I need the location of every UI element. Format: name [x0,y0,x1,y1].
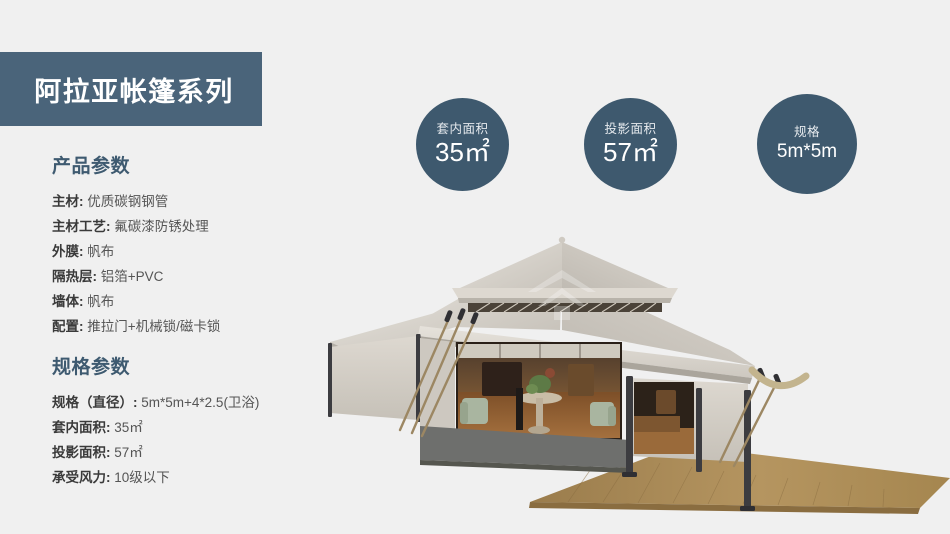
interior-figure [516,388,523,430]
spec-value: 铝箔+PVC [101,269,164,284]
badge-value: 57㎡ [603,139,658,166]
badge-label: 规格 [794,126,820,140]
interior-armchair-left [460,398,488,424]
title-banner: 阿拉亚帐篷系列 [0,52,262,126]
bay-side-wall [420,338,455,440]
product-parameters-heading: 产品参数 [52,156,352,179]
page-title: 阿拉亚帐篷系列 [34,70,234,109]
badge-value: 35㎡ [435,139,490,166]
left-wall-post [328,343,332,417]
spec-value: 氟碳漆防锈处理 [114,219,209,234]
post-bay-left-foot [622,472,637,477]
spec-value: 帆布 [87,294,114,309]
interior-armchair-right [590,402,616,426]
post-right-inner [696,388,702,472]
left-wall-inner-post [416,334,421,422]
badge-value: 5m*5m [777,142,837,162]
roof-upper-eave-shadow [458,298,672,303]
post-center [626,376,633,476]
badge-dimensions: 规格 5m*5m [757,94,857,194]
spec-label: 套内面积: [52,420,111,435]
roof-finial [559,237,565,243]
spec-label: 规格（直径）: [52,395,138,410]
spec-label: 承受风力: [52,470,111,485]
spec-label: 墙体: [52,294,84,309]
badge-projected-area: 投影面积 57㎡ [584,98,677,191]
right-interior-counter [634,416,680,432]
tent-illustration [300,230,950,534]
spec-value: 35㎡ [114,420,143,435]
product-spec-page: 阿拉亚帐篷系列 产品参数 主材: 优质碳钢钢管 主材工艺: 氟碳漆防锈处理 外膜… [0,0,950,534]
right-interior-cabinet [656,390,676,414]
spec-label: 主材: [52,194,84,209]
interior-wall-art [545,368,555,378]
spec-label: 配置: [52,319,84,334]
interior-sideboard [568,364,594,396]
badge-interior-area: 套内面积 35㎡ [416,98,509,191]
spec-row: 主材: 优质碳钢钢管 [52,189,352,214]
spec-value: 10级以下 [114,470,170,485]
spec-value: 优质碳钢钢管 [87,194,168,209]
spec-value: 57㎡ [114,445,143,460]
left-canvas-wall [330,336,418,420]
badge-label: 套内面积 [436,123,488,137]
spec-label: 隔热层: [52,269,97,284]
spec-label: 外膜: [52,244,84,259]
badge-label: 投影面积 [604,123,656,137]
spec-value: 推拉门+机械锁/磁卡锁 [87,319,220,334]
tent-illustration-svg [300,230,950,534]
spec-value: 帆布 [87,244,114,259]
spec-label: 投影面积: [52,445,111,460]
post-right-outer-foot [740,506,755,511]
glass-transom [458,344,620,358]
spec-label: 主材工艺: [52,219,111,234]
spec-value: 5m*5m+4*2.5(卫浴) [141,395,259,410]
